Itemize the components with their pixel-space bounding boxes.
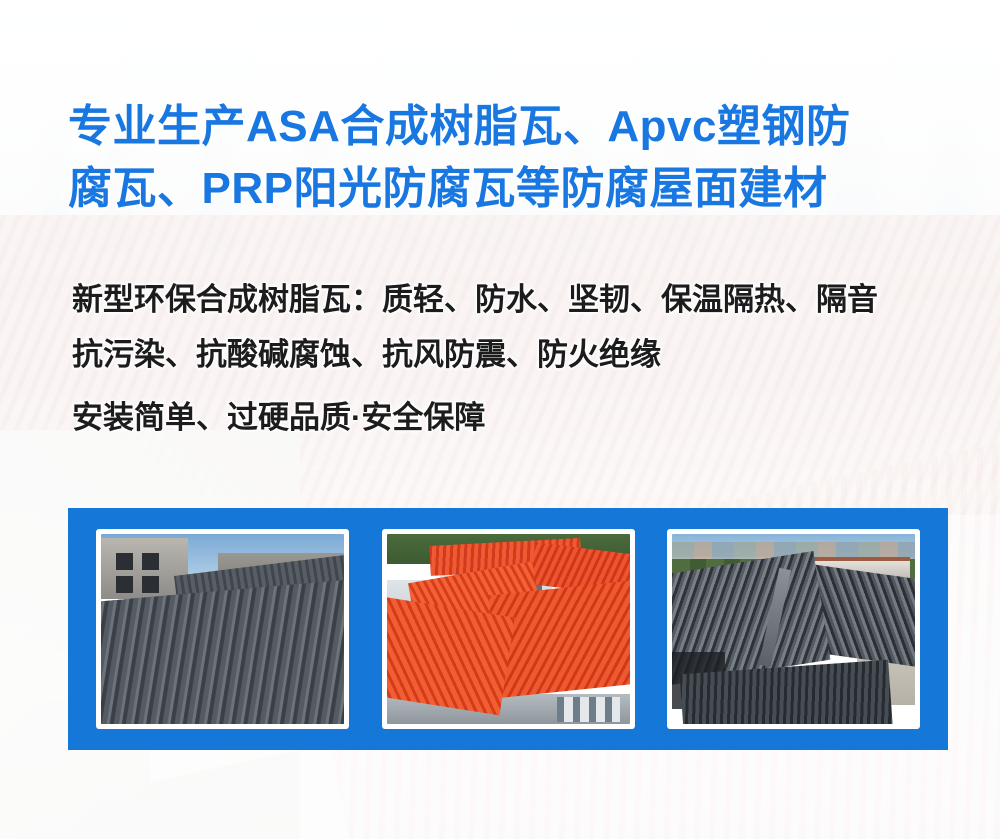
subheadline-line-1: 新型环保合成树脂瓦：质轻、防水、坚韧、保温隔热、隔音 (72, 272, 962, 327)
photo1-window (142, 553, 159, 570)
gray-resin-tile-roof-closeup-photo (101, 534, 344, 724)
photo2-main-left-roof (387, 596, 515, 716)
photo-frame-1[interactable] (96, 529, 349, 729)
headline: 专业生产ASA合成树脂瓦、Apvc塑钢防 腐瓦、PRP阳光防腐瓦等防腐屋面建材 (68, 96, 948, 220)
photo1-window (116, 576, 133, 593)
product-promo-banner: 专业生产ASA合成树脂瓦、Apvc塑钢防 腐瓦、PRP阳光防腐瓦等防腐屋面建材 … (0, 0, 1000, 839)
headline-line-2: 腐瓦、PRP阳光防腐瓦等防腐屋面建材 (68, 158, 948, 220)
photo1-window (116, 553, 133, 570)
headline-line-1: 专业生产ASA合成树脂瓦、Apvc塑钢防 (68, 96, 948, 158)
subheadline-line-3: 安装简单、过硬品质·安全保障 (72, 390, 962, 445)
photo1-window (142, 576, 159, 593)
dark-resin-tile-roof-wide-photo (672, 534, 915, 724)
red-resin-tile-roof-aerial-photo (387, 534, 630, 724)
subheadline: 新型环保合成树脂瓦：质轻、防水、坚韧、保温隔热、隔音 抗污染、抗酸碱腐蚀、抗风防… (72, 272, 962, 445)
photo-frame-3[interactable] (667, 529, 920, 729)
subheadline-line-2: 抗污染、抗酸碱腐蚀、抗风防震、防火绝缘 (72, 327, 962, 382)
banner-content: 专业生产ASA合成树脂瓦、Apvc塑钢防 腐瓦、PRP阳光防腐瓦等防腐屋面建材 … (0, 0, 1000, 839)
photo-frame-2[interactable] (382, 529, 635, 729)
photo2-base-windows (557, 697, 620, 722)
gallery-panel (68, 508, 948, 750)
photo1-main-roof (101, 579, 344, 724)
